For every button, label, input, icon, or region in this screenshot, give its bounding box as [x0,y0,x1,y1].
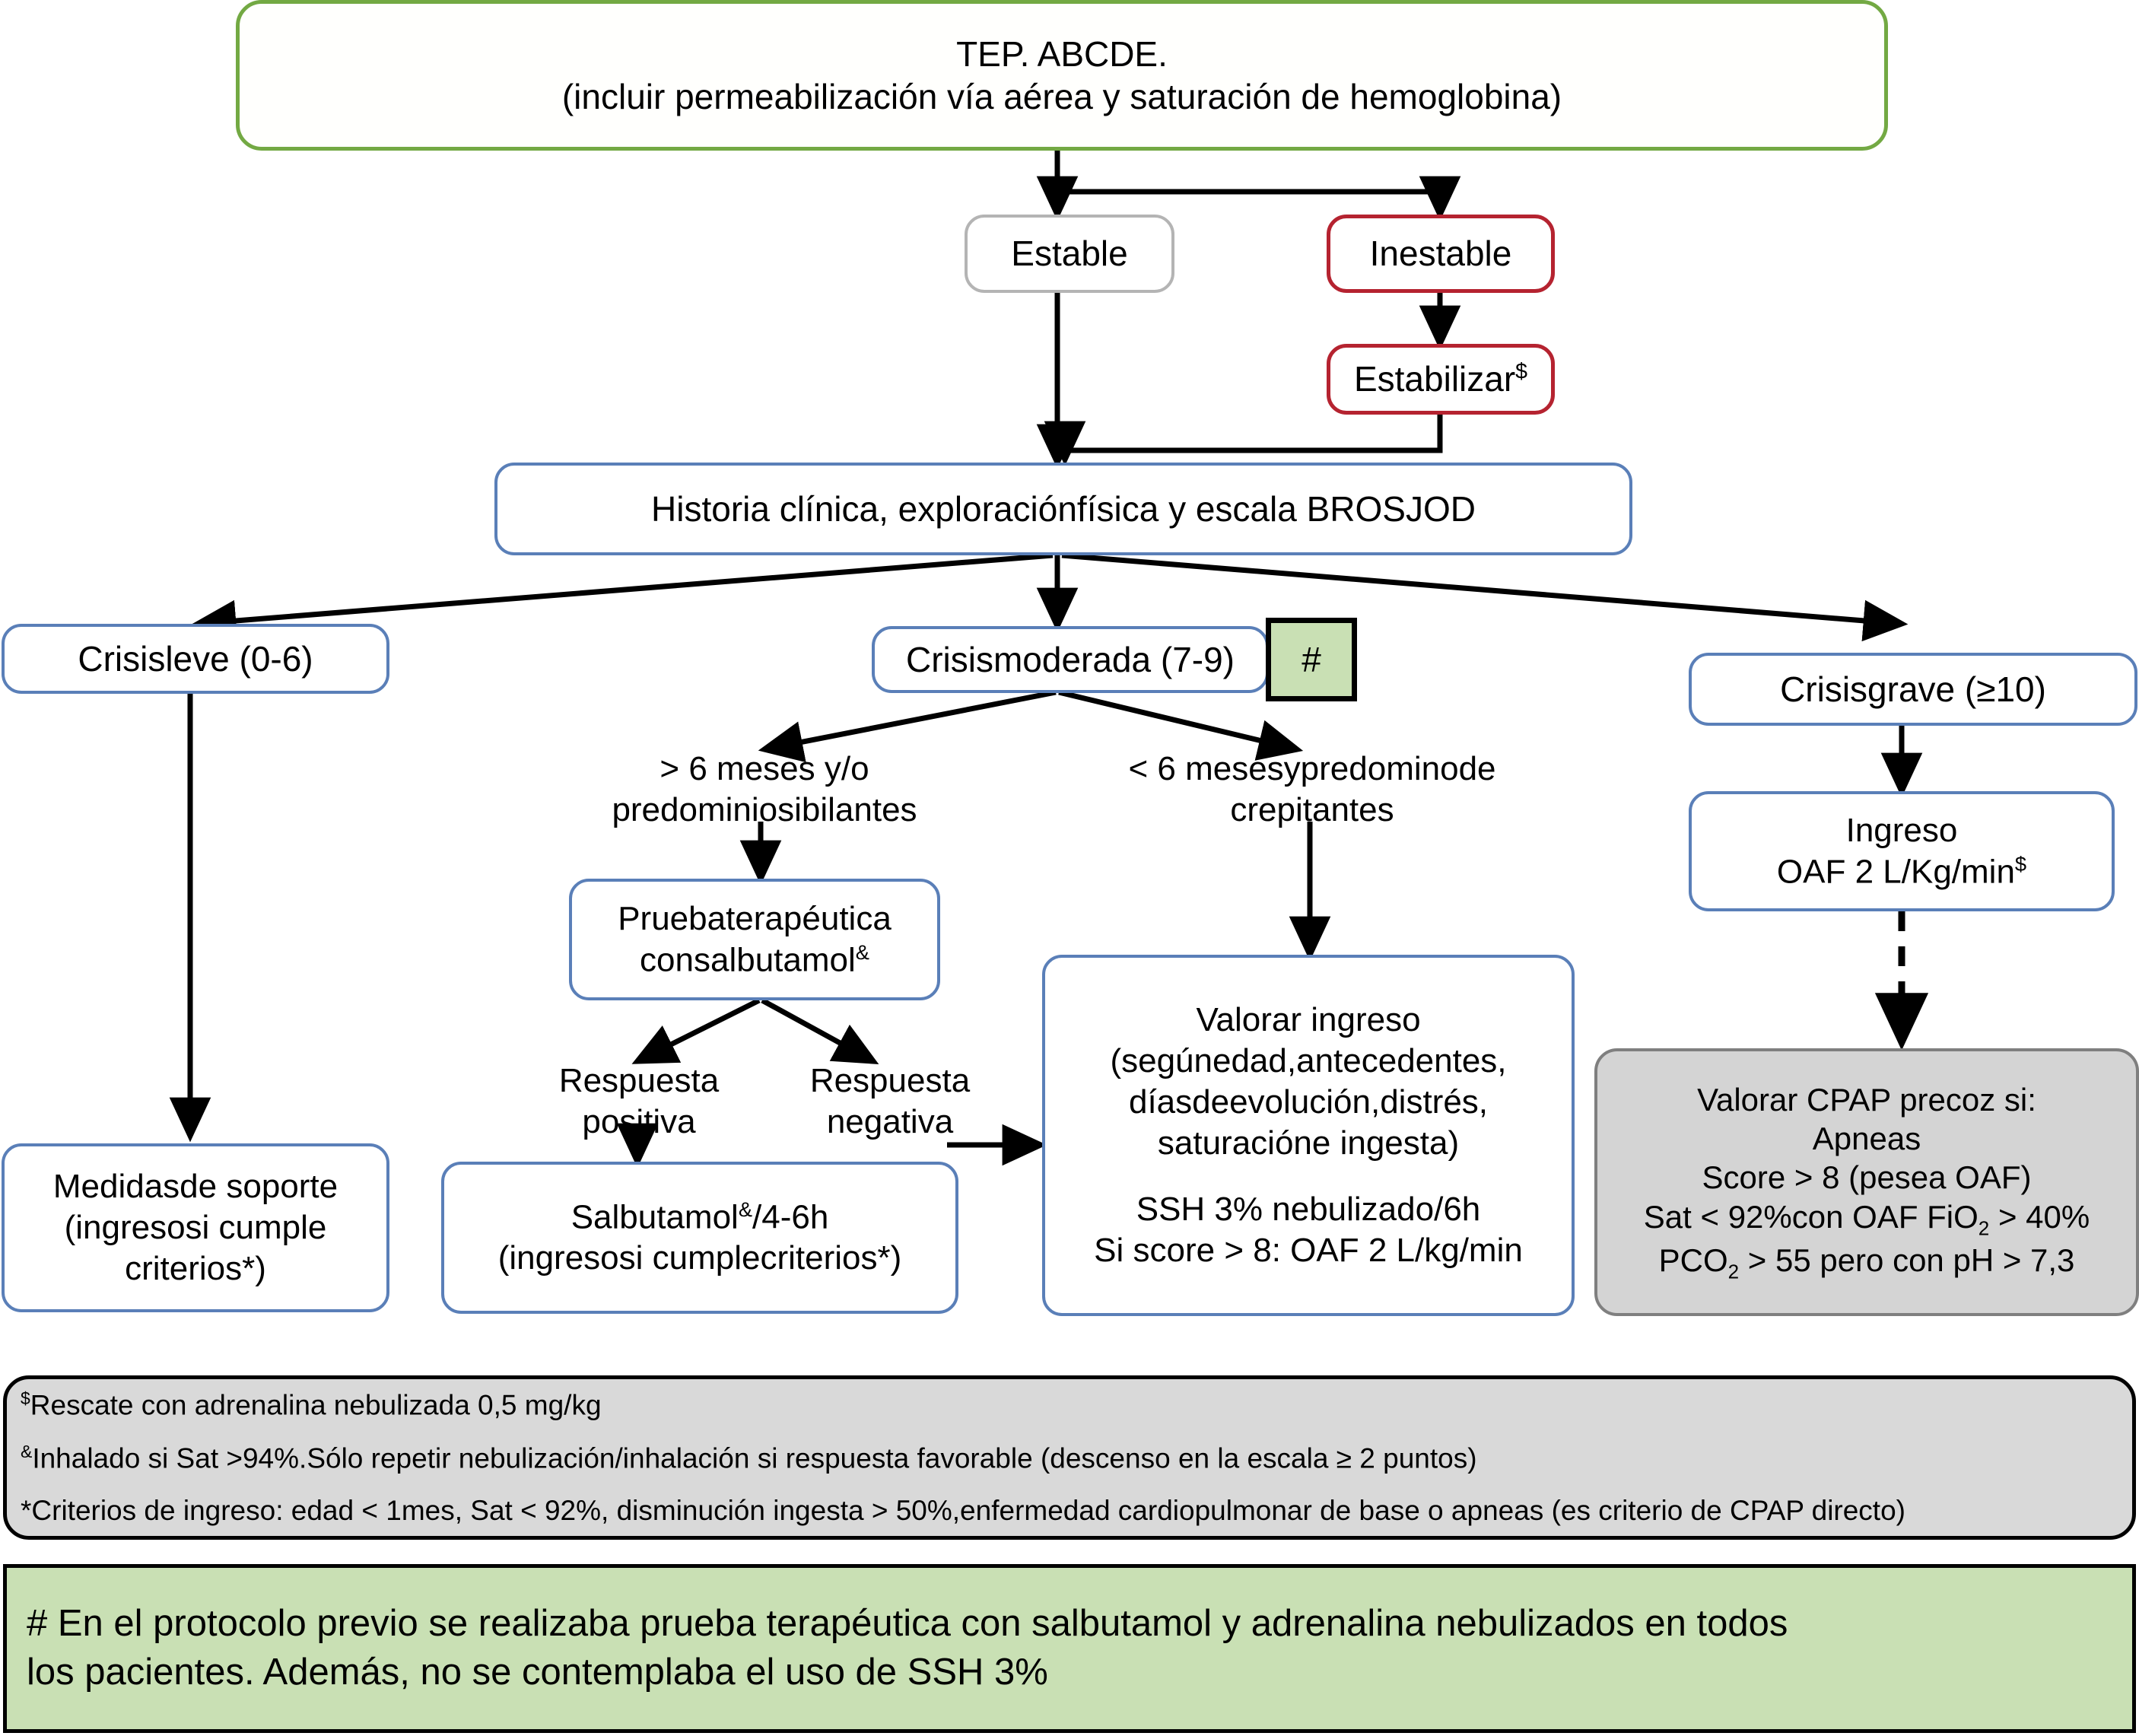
cpap-line-4-a: Sat < 92%con OAF FiO [1644,1199,1978,1235]
footnote-2: &Inhalado si Sat >94%.Sólo repetir nebul… [7,1442,2132,1475]
moderate-label: Crisismoderada (7-9) [875,638,1266,681]
flowchart-canvas: TEP. ABCDE. (incluir permeabilización ví… [0,0,2139,1736]
footnote-3: *Criterios de ingreso: edad < 1mes, Sat … [7,1495,2132,1528]
node-response-positive: Respuesta positiva [510,1065,768,1138]
response-positive-line-2: positiva [517,1102,761,1143]
cpap-line-3: Score > 8 (pesea OAF) [1605,1158,2128,1197]
cpap-line-5-a: PCO [1659,1242,1728,1278]
severe-admission-line-1: Ingreso [1699,810,2104,851]
admit-line-1: Valorar ingreso [1053,1000,1564,1041]
cpap-line-4-subscript: 2 [1978,1216,1989,1239]
unstable-label: Inestable [1330,232,1551,275]
footnotes-panel: $Rescate con adrenalina nebulizada 0,5 m… [3,1375,2136,1540]
edge-title-to-unstable [1057,151,1440,215]
node-severity-severe: Crisisgrave (≥10) [1689,653,2137,726]
severe-admission-superscript: $ [2015,852,2026,876]
admit-line-6: Si score > 8: OAF 2 L/kg/min [1053,1230,1564,1271]
node-stable: Estable [965,215,1174,293]
admit-line-4: saturacióne ingesta) [1053,1123,1564,1164]
stabilize-superscript: $ [1515,360,1527,384]
footnote-2-marker: & [21,1442,32,1461]
support-line-3: criterios*) [12,1248,379,1289]
node-assessment: Historia clínica, exploraciónfísica y es… [494,463,1632,555]
footnote-1: $Rescate con adrenalina nebulizada 0,5 m… [7,1388,2132,1422]
admit-line-5: SSH 3% nebulizado/6h [1053,1189,1564,1230]
node-unstable: Inestable [1327,215,1555,293]
salbutamol-superscript: & [739,1197,752,1221]
node-title: TEP. ABCDE. (incluir permeabilización ví… [236,0,1888,151]
edge-assessment-to-severe [1062,555,1902,624]
node-severe-admission: Ingreso OAF 2 L/Kg/min$ [1689,791,2115,911]
mild-label: Crisisleve (0-6) [5,637,386,680]
node-condition-older: > 6 meses y/o predominiosibilantes [578,753,951,826]
response-negative-line-2: negativa [768,1102,1012,1143]
trial-line-2: consalbutamol [640,941,856,978]
node-severity-moderate: Crisismoderada (7-9) [872,626,1269,693]
node-stabilize: Estabilizar$ [1327,344,1555,415]
support-line-2: (ingresosi cumple [12,1207,379,1248]
node-response-negative: Respuesta negativa [761,1065,1019,1138]
response-positive-line-1: Respuesta [517,1060,761,1102]
node-cpap-consideration: Valorar CPAP precoz si: Apneas Score > 8… [1594,1048,2139,1316]
cpap-line-4-b: > 40% [1989,1199,2090,1235]
footnote-1-text: Rescate con adrenalina nebulizada 0,5 mg… [30,1389,602,1420]
node-consider-admission: Valorar ingreso (segúnedad,antecedentes,… [1042,955,1575,1316]
stable-label: Estable [968,232,1171,275]
cpap-line-1: Valorar CPAP precoz si: [1605,1080,2128,1119]
cpap-line-5-subscript: 2 [1728,1260,1739,1283]
edge-trial-to-positive [637,1000,759,1061]
footnote-1-marker: $ [21,1388,30,1408]
admit-line-3: díasdeevolución,distrés, [1053,1082,1564,1123]
footnote-3-text: *Criterios de ingreso: edad < 1mes, Sat … [21,1495,1905,1526]
salbutamol-line-2: (ingresosi cumplecriterios*) [452,1238,948,1279]
edge-moderate-to-cond-left [764,692,1056,749]
node-salbutamol: Salbutamol&/4-6h (ingresosi cumplecriter… [441,1162,958,1314]
salbutamol-line-1-a: Salbutamol [571,1199,739,1236]
trial-line-1: Pruebaterapéutica [580,898,930,940]
node-therapeutic-trial: Pruebaterapéutica consalbutamol& [569,879,940,1000]
node-severity-mild: Crisisleve (0-6) [2,624,389,694]
edge-stabilize-to-assessment [1065,415,1440,459]
moderate-marker-label: # [1271,638,1352,681]
title-line-2: (incluir permeabilización vía aérea y sa… [247,75,1877,118]
node-moderate-marker: # [1266,618,1357,701]
node-condition-younger: < 6 mesesypredominode crepitantes [1088,753,1537,826]
cpap-line-5-b: > 55 pero con pH > 7,3 [1739,1242,2074,1278]
title-line-1: TEP. ABCDE. [247,33,1877,75]
cpap-line-2: Apneas [1605,1119,2128,1158]
admit-spacer [1053,1163,1564,1189]
support-line-1: Medidasde soporte [12,1166,379,1207]
condition-older-line-1: > 6 meses y/o [586,749,943,790]
condition-younger-line-2: crepitantes [1095,790,1529,831]
green-note-line-1: # En el protocolo previo se realizaba pr… [7,1600,2132,1649]
admit-line-2: (segúnedad,antecedentes, [1053,1041,1564,1082]
assessment-label: Historia clínica, exploraciónfísica y es… [497,488,1629,530]
edge-trial-to-negative [762,1000,873,1061]
node-support-measures: Medidasde soporte (ingresosi cumple crit… [2,1143,389,1312]
salbutamol-line-1-b: /4-6h [752,1199,828,1236]
condition-older-line-2: predominiosibilantes [586,790,943,831]
severe-admission-line-2: OAF 2 L/Kg/min [1777,853,2015,890]
footnote-2-text: Inhalado si Sat >94%.Sólo repetir nebuli… [32,1442,1476,1474]
green-note-line-2: los pacientes. Además, no se contemplaba… [7,1649,2132,1697]
edge-assessment-to-mild [198,555,1053,624]
green-note-panel: # En el protocolo previo se realizaba pr… [3,1564,2136,1733]
condition-younger-line-1: < 6 mesesypredominode [1095,749,1529,790]
severe-label: Crisisgrave (≥10) [1692,668,2134,711]
stabilize-label: Estabilizar [1354,359,1515,399]
trial-superscript: & [856,940,869,964]
edge-moderate-to-cond-right [1059,692,1297,749]
response-negative-line-1: Respuesta [768,1060,1012,1102]
